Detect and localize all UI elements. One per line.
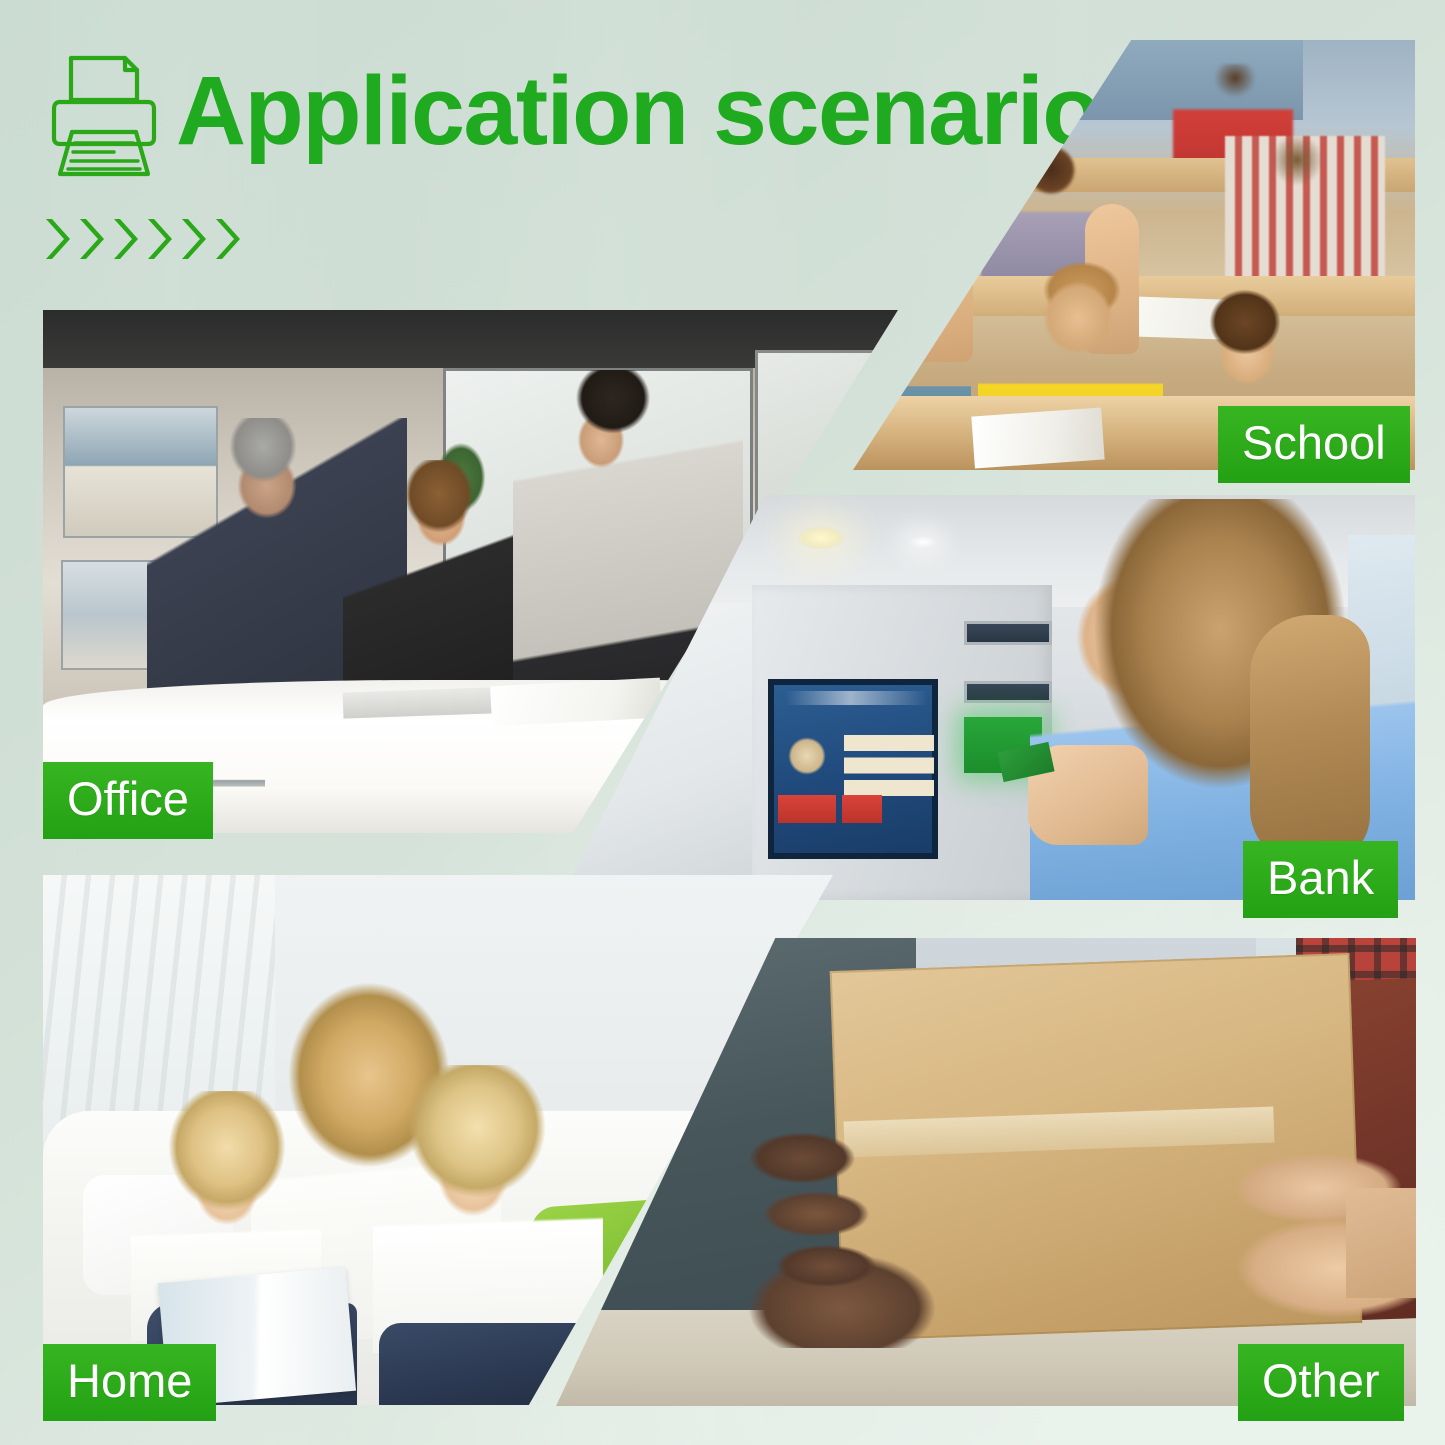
scenario-label-home: Home — [43, 1344, 216, 1421]
chevron-right-icon — [42, 216, 70, 262]
chevron-right-icon — [144, 216, 172, 262]
scenario-label-school: School — [1218, 406, 1410, 483]
scenario-label-other: Other — [1238, 1344, 1404, 1421]
chevron-right-icon — [178, 216, 206, 262]
page-title: Application scenarios — [176, 62, 1153, 159]
scenario-label-office: Office — [43, 762, 213, 839]
chevron-right-icon — [212, 216, 240, 262]
infographic-canvas: Application scenarios — [0, 0, 1445, 1445]
scenario-label-bank: Bank — [1243, 841, 1398, 918]
chevron-right-icon — [110, 216, 138, 262]
chevron-right-icon — [76, 216, 104, 262]
chevron-arrow-row — [42, 216, 252, 268]
header: Application scenarios — [0, 0, 1100, 290]
printer-icon — [42, 52, 164, 178]
